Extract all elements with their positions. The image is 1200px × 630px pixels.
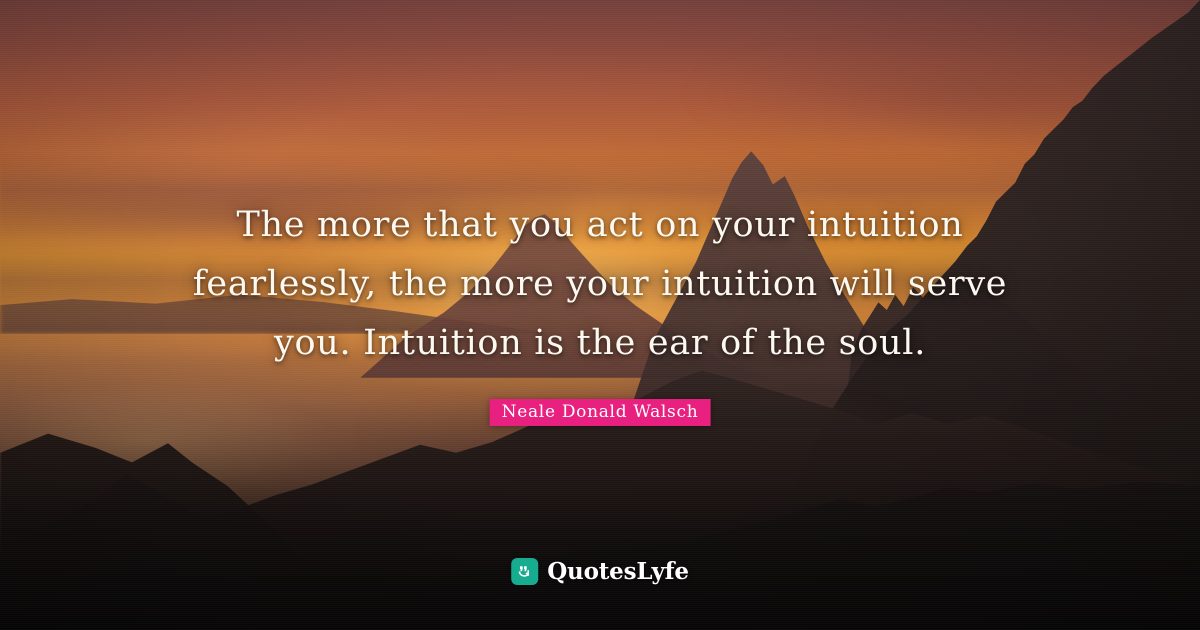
brand-wordmark: QuotesLyfe — [547, 558, 689, 585]
card-content: The more that you act on your intuition … — [0, 0, 1200, 630]
brand-logo[interactable]: QuotesLyfe — [511, 558, 689, 585]
quote-card: The more that you act on your intuition … — [0, 0, 1200, 630]
author-badge[interactable]: Neale Donald Walsch — [490, 399, 711, 426]
quote-smiley-icon — [511, 558, 538, 585]
quote-text: The more that you act on your intuition … — [0, 196, 1200, 373]
